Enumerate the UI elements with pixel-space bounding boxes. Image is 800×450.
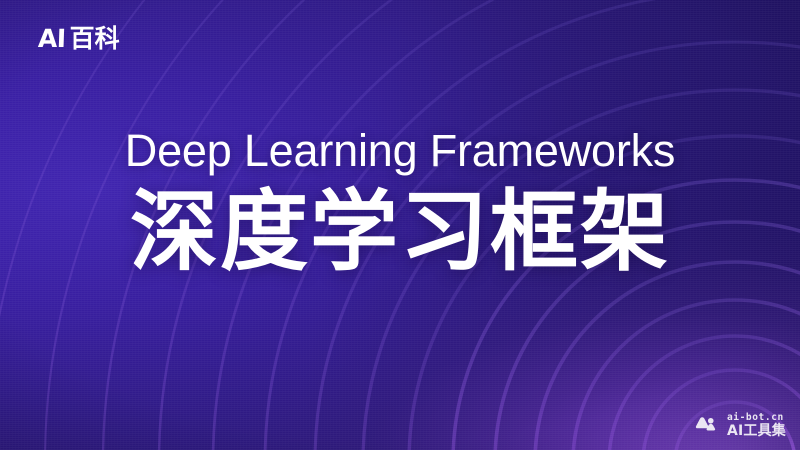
- poster-canvas: AI 百科 Deep Learning Frameworks 深度学习框架 ai…: [0, 0, 800, 450]
- watermark: ai-bot.cn AI工具集: [694, 413, 786, 439]
- brand-logo-cn: 百科: [70, 26, 120, 51]
- brand-logo-ai: AI: [38, 26, 67, 51]
- page-title: 深度学习框架: [0, 186, 800, 278]
- mountain-logo-icon: [694, 414, 720, 436]
- subtitle-english: Deep Learning Frameworks: [0, 126, 800, 176]
- brand-logo: AI 百科: [38, 26, 120, 51]
- watermark-name: AI工具集: [727, 424, 786, 438]
- watermark-url: ai-bot.cn: [727, 413, 784, 423]
- watermark-text: ai-bot.cn AI工具集: [727, 413, 786, 439]
- headline-block: Deep Learning Frameworks 深度学习框架: [0, 126, 800, 278]
